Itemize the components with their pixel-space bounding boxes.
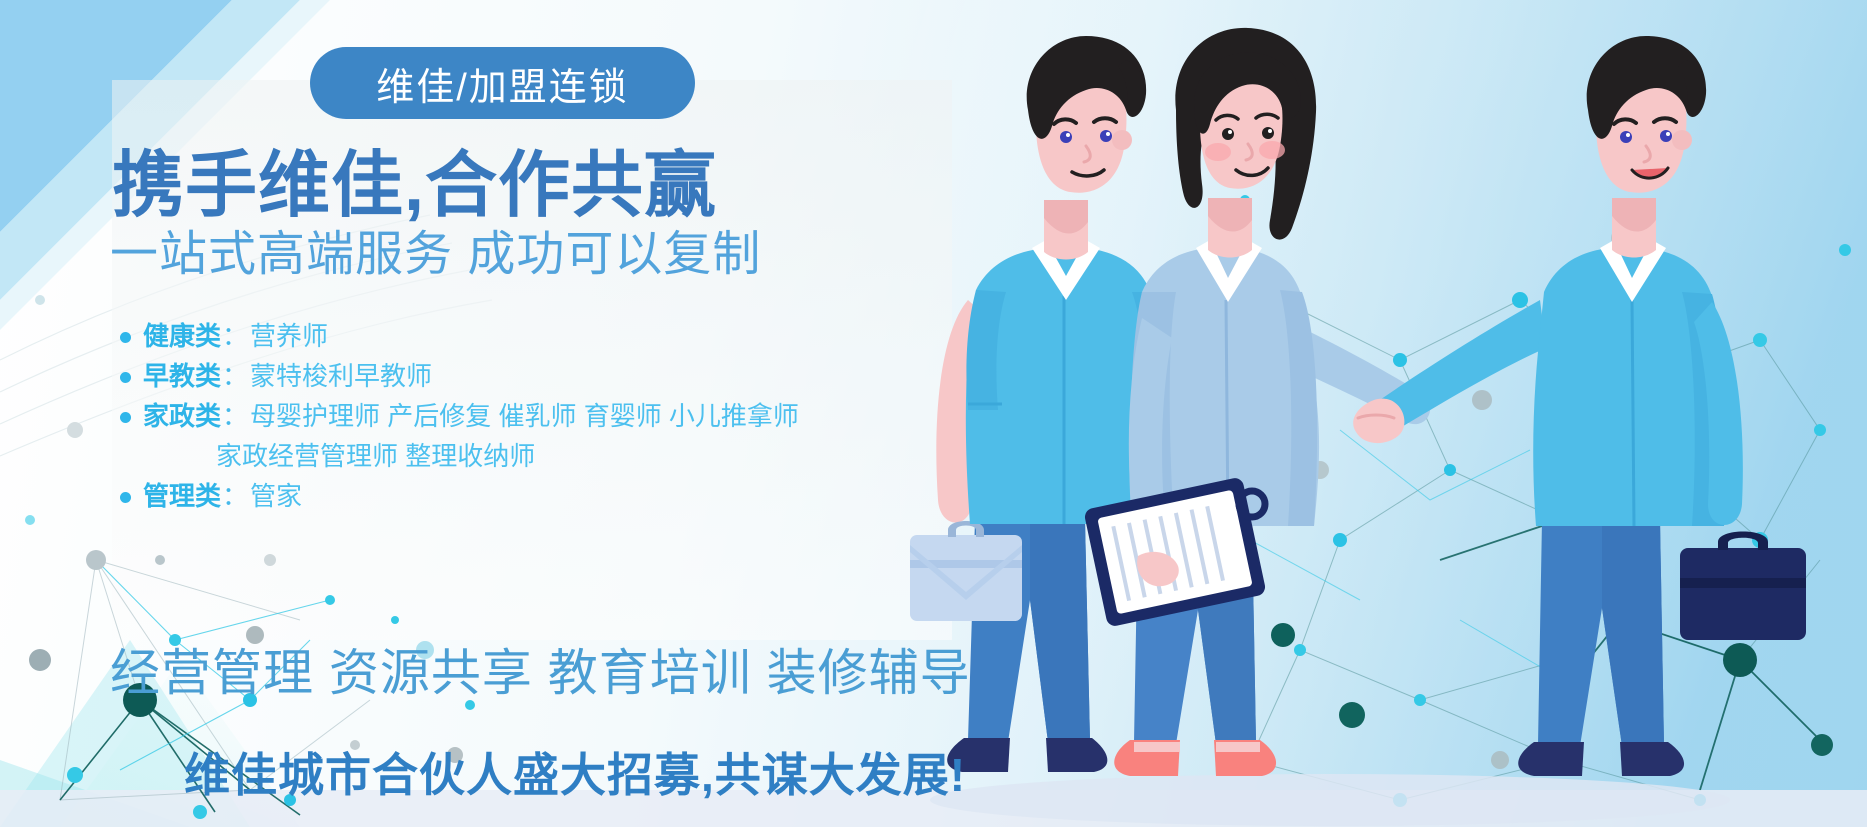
bullet-dot-icon (120, 372, 131, 383)
business-people-illustration (880, 0, 1867, 827)
call-to-action-text: 维佳城市合伙人盛大招募,共谋大发展! (184, 752, 966, 798)
page-subtitle: 一站式高端服务 成功可以复制 (110, 231, 761, 279)
list-item: 健康类 ： 营养师 (120, 320, 970, 353)
category-value: 母婴护理师 产后修复 催乳师 育婴师 小儿推拿师 (250, 400, 799, 433)
category-value: 营养师 (250, 320, 328, 353)
brand-badge[interactable]: 维佳/加盟连锁 (310, 47, 695, 119)
category-separator: ： (222, 320, 248, 353)
promo-banner: 维佳/加盟连锁 携手维佳,合作共赢 一站式高端服务 成功可以复制 健康类 ： 营… (0, 0, 1867, 827)
list-item: 家政类 ： 母婴护理师 产后修复 催乳师 育婴师 小儿推拿师 (120, 400, 970, 433)
list-item: 早教类 ： 蒙特梭利早教师 (120, 360, 970, 393)
category-separator: ： (222, 480, 248, 513)
bullet-dot-icon (120, 412, 131, 423)
category-label: 健康类 (143, 320, 221, 353)
page-title: 携手维佳,合作共赢 (112, 150, 717, 222)
category-separator: ： (222, 360, 248, 393)
category-label: 管理类 (143, 480, 221, 513)
list-item-continuation: 家政经营管理师 整理收纳师 (120, 440, 970, 473)
category-label: 早教类 (143, 360, 221, 393)
category-separator: ： (222, 400, 248, 433)
category-value: 蒙特梭利早教师 (250, 360, 432, 393)
bullet-dot-icon (120, 332, 131, 343)
service-category-list: 健康类 ： 营养师 早教类 ： 蒙特梭利早教师 家政类 ： 母婴护理师 产后修复… (120, 320, 970, 520)
feature-highlights: 经营管理 资源共享 教育培训 装修辅导 (110, 648, 971, 698)
brand-badge-label: 维佳/加盟连锁 (376, 56, 629, 111)
category-value: 家政经营管理师 整理收纳师 (216, 440, 535, 473)
category-value: 管家 (250, 480, 302, 513)
banner-content: 维佳/加盟连锁 携手维佳,合作共赢 一站式高端服务 成功可以复制 健康类 ： 营… (0, 0, 1000, 827)
list-item: 管理类 ： 管家 (120, 480, 970, 513)
briefcase-right (1680, 532, 1806, 641)
figure-man-right (1353, 36, 1806, 776)
bullet-dot-icon (120, 492, 131, 503)
category-label: 家政类 (143, 400, 221, 433)
